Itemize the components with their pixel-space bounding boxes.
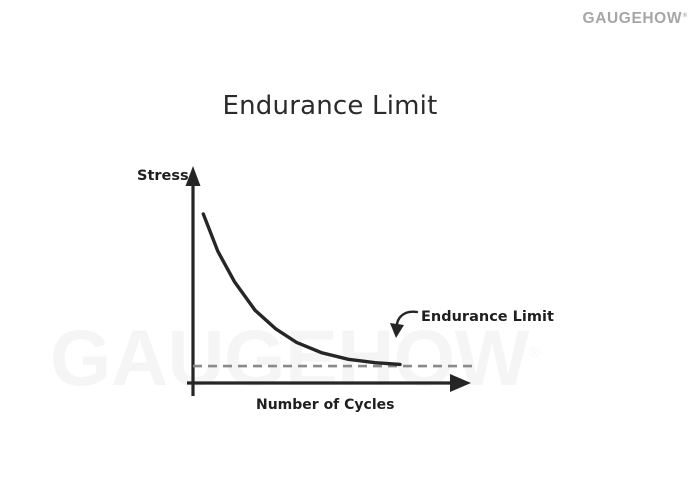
x-axis-arrow-icon [450, 374, 471, 392]
annotation-arrow-head-icon [390, 323, 404, 338]
endurance-limit-annotation-label: Endurance Limit [421, 309, 554, 325]
stress-cycle-curve [203, 214, 400, 364]
endurance-limit-chart [0, 0, 700, 500]
x-axis-label: Number of Cycles [256, 397, 394, 413]
slide-canvas: GAUGEHOW® GAUGEHOW® Endurance Limit Stre… [0, 0, 700, 500]
y-axis-label: Stress [137, 168, 189, 184]
chart-title: Endurance Limit [0, 91, 660, 121]
